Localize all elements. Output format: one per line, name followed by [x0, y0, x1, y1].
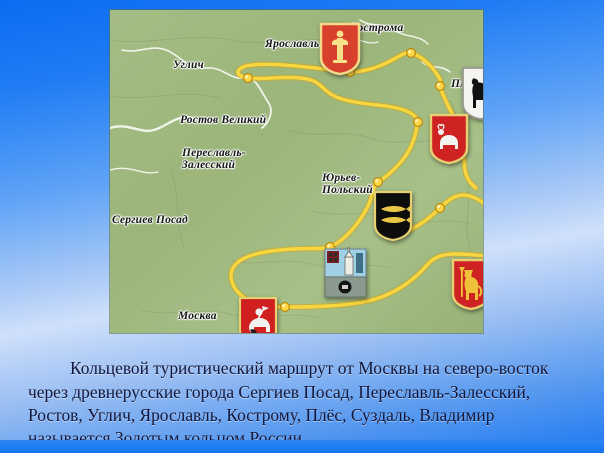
golden-ring-map: Углич Ярославль Кострома Плёс Ростов Вел… [110, 10, 483, 333]
city-label-rostov: Ростов Великий [180, 115, 266, 127]
city-label-yaroslavl: Ярославль [265, 39, 319, 51]
coat-of-arms-vladimir [450, 258, 483, 311]
coat-of-arms-uglich [318, 22, 362, 76]
slide-golden-ring: Углич Ярославль Кострома Плёс Ростов Вел… [0, 0, 604, 453]
city-label-uglich: Углич [173, 60, 204, 72]
coat-of-arms-pereslavl-zalessky [372, 190, 414, 242]
coat-of-arms-moskva [237, 296, 279, 333]
map-graphics [110, 10, 483, 333]
coat-of-arms-rostov [428, 113, 470, 165]
city-label-yuryev-polsky: Юрьев- Польский [322, 173, 373, 196]
slide-caption: Кольцевой туристический маршрут от Москв… [28, 357, 580, 450]
bottom-band [0, 440, 604, 453]
coat-of-arms-sergiev-posad [323, 247, 368, 299]
city-label-pereslavl: Переславль- Залесский [182, 148, 246, 171]
city-label-sergiev-posad: Сергиев Посад [112, 215, 188, 227]
city-label-moskva: Москва [178, 311, 217, 323]
